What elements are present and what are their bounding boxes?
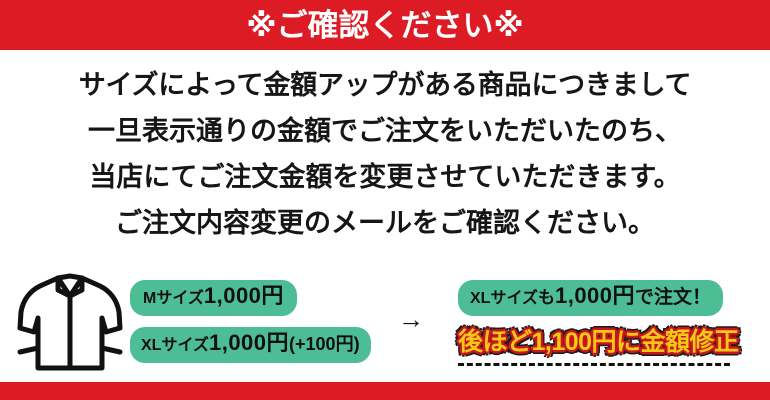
notice-line-1: サイズによって金額アップがある商品につきまして [0,62,770,108]
dress-shirt-icon [14,270,126,376]
m-size-price: 1,000円 [204,283,284,308]
notice-text-block: サイズによって金額アップがある商品につきまして 一旦表示通りの金額でご注文をいた… [0,62,770,246]
badge-xl-order-ok: XLサイズも1,000円で注文！ [458,280,723,316]
price-comparison-area: Mサイズ1,000円 XLサイズ1,000円(+100円) → XLサイズも1,… [0,268,770,378]
notice-line-2: 一旦表示通りの金額でご注文をいただいたのち、 [0,108,770,154]
notice-line-3: 当店にてご注文金額を変更させていただきます。 [0,154,770,200]
sizing-notice-banner: ※ご確認ください※ サイズによって金額アップがある商品につきまして 一旦表示通り… [0,0,770,400]
footer-bar [0,382,770,400]
after-xl-size-label: XLサイズ [470,290,538,307]
after-order-tail: で注文！ [635,287,711,308]
price-correction-note: 後ほど1,100円に金額修正 [458,326,758,358]
after-also-particle: も [538,288,555,307]
badge-m-size: Mサイズ1,000円 [130,280,297,316]
before-price-column: Mサイズ1,000円 XLサイズ1,000円(+100円) [130,280,380,363]
xl-size-label: XLサイズ [141,337,209,354]
xl-size-price: 1,000円 [209,330,289,355]
after-xl-price: 1,000円 [555,283,635,308]
right-arrow-icon: → [398,306,424,332]
dashed-underline [458,363,730,366]
after-price-column: XLサイズも1,000円で注文！ 後ほど1,100円に金額修正 [458,280,758,366]
header-bar: ※ご確認ください※ [0,0,770,50]
page-title: ※ご確認ください※ [246,10,523,41]
notice-line-4: ご注文内容変更のメールをご確認ください。 [0,200,770,246]
badge-xl-size: XLサイズ1,000円(+100円) [130,327,371,363]
m-size-label: Mサイズ [143,290,204,307]
xl-size-surcharge: (+100円) [289,334,360,354]
